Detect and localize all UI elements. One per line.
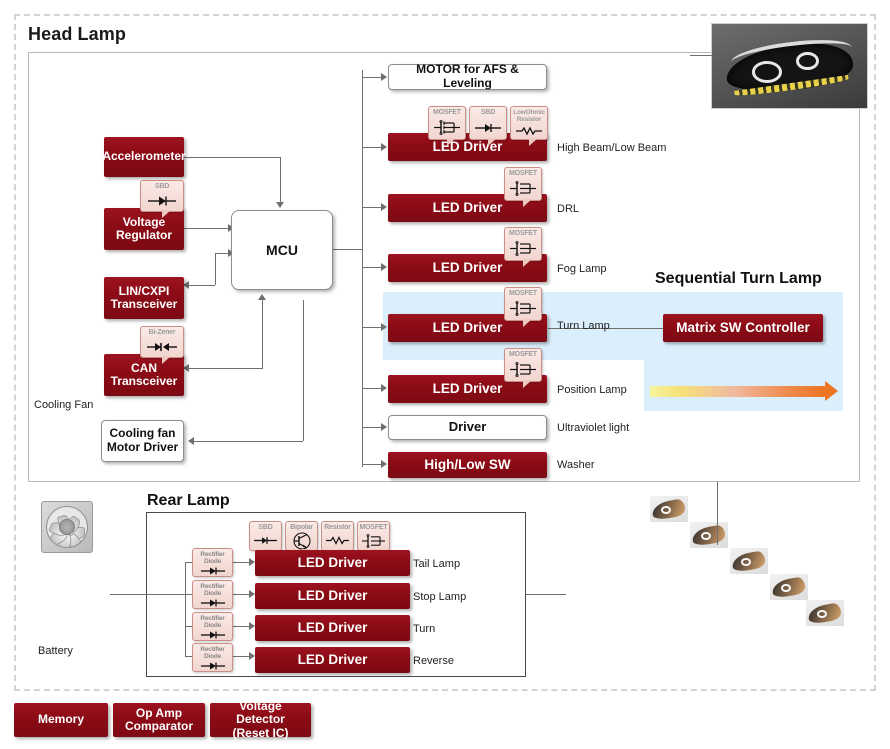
chip-bi-zener-label: Bi-Zener <box>149 327 176 337</box>
block-driver-ultraviolet-label: Driver <box>449 420 487 435</box>
chip-rear-bipolar-label: Bipolar <box>290 522 313 532</box>
block-voltage-regulator-label-2: Regulator <box>116 229 172 242</box>
block-led-driver-position-label: LED Driver <box>433 381 503 396</box>
sequential-lamp-frame-1 <box>650 496 688 522</box>
rect-diode-2-label-1: Rectifier <box>200 583 224 590</box>
block-cooling-fan-label-2: Motor Driver <box>107 441 178 455</box>
rear-lamp-title: Rear Lamp <box>147 492 230 510</box>
arrow-branch-washer <box>381 460 387 468</box>
chip-mosfet-fog-lamp: MOSFET <box>504 227 542 261</box>
chip-mosfet-tail-lamp: MOSFET <box>357 521 390 551</box>
block-mcu[interactable]: MCU <box>231 210 333 290</box>
chip-mosfet-drl-label: MOSFET <box>509 168 537 178</box>
sequential-lamp-frame-5 <box>806 600 844 626</box>
rectifier-diode-icon <box>193 629 232 640</box>
line-fan-v <box>303 300 304 441</box>
cooling-fan-image <box>41 501 93 553</box>
block-voltage-regulator[interactable]: Voltage Regulator <box>104 208 184 250</box>
rect-diode-1-label-2: Diode <box>204 558 221 565</box>
chip-rear-sbd-label: SBD <box>258 522 272 532</box>
rect-diode-4-label-1: Rectifier <box>200 646 224 653</box>
sbd-diode-icon <box>470 117 506 140</box>
block-led-driver-stop-label: LED Driver <box>298 588 368 603</box>
chip-sbd-high-beam-label: SBD <box>481 107 495 117</box>
line-accelerometer-v <box>280 157 281 202</box>
label-stop-lamp: Stop Lamp <box>413 591 466 603</box>
block-matrix-sw-controller[interactable]: Matrix SW Controller <box>663 314 823 342</box>
mosfet-icon <box>505 359 541 382</box>
line-rearlamp-to-car <box>526 594 566 595</box>
legend-op-amp-comparator[interactable]: Op Amp Comparator <box>113 703 205 737</box>
block-lin-cxpi-transceiver[interactable]: LIN/CXPI Transceiver <box>104 277 184 319</box>
rectifier-diode-icon <box>193 660 232 671</box>
arrow-branch-motor <box>381 73 387 81</box>
line-output-bus <box>362 70 363 467</box>
line-branch-uv <box>362 427 382 428</box>
headlamp-photo <box>711 23 868 109</box>
label-reverse: Reverse <box>413 655 454 667</box>
arrow-mcu-to-fan <box>188 437 194 445</box>
block-led-driver-fog-label: LED Driver <box>433 260 503 275</box>
chip-sbd-tail-lamp: SBD <box>249 521 282 551</box>
sequential-lamp-frame-4 <box>770 574 808 600</box>
arrow-branch-highbeam <box>381 143 387 151</box>
chip-sbd-high-beam: SBD <box>469 106 507 140</box>
line-rect-drv-3 <box>232 626 250 627</box>
arrow-branch-position <box>381 384 387 392</box>
block-rectifier-diode-turn[interactable]: RectifierDiode <box>192 612 233 641</box>
line-rear-bus <box>185 562 186 656</box>
block-rectifier-diode-reverse[interactable]: RectifierDiode <box>192 643 233 672</box>
block-accelerometer-label: Accelerometer <box>102 150 185 163</box>
line-to-headlamp-photo <box>690 55 712 56</box>
line-branch-highbeam <box>362 147 382 148</box>
rect-diode-3-label-2: Diode <box>204 622 221 629</box>
block-rectifier-diode-stop[interactable]: RectifierDiode <box>192 580 233 609</box>
chip-mosfet-turn-lamp: MOSFET <box>504 287 542 321</box>
arrow-branch-drl <box>381 203 387 211</box>
rect-diode-3-label-1: Rectifier <box>200 615 224 622</box>
block-can-transceiver[interactable]: CAN Transceiver <box>104 354 184 396</box>
sequential-turn-lamp-title: Sequential Turn Lamp <box>655 270 822 288</box>
chip-mosfet-position-label: MOSFET <box>509 349 537 359</box>
block-led-driver-turn[interactable]: LED Driver <box>255 615 410 641</box>
line-can-v <box>262 300 263 368</box>
line-rect-drv-4 <box>232 656 250 657</box>
block-led-driver-turn-rear-label: LED Driver <box>298 620 368 635</box>
block-matrix-sw-controller-label: Matrix SW Controller <box>676 320 810 335</box>
bipolar-transistor-icon <box>286 532 317 551</box>
block-high-low-sw-label: High/Low SW <box>424 457 510 472</box>
label-high-beam-low-beam: High Beam/Low Beam <box>557 142 666 154</box>
resistor-icon <box>322 532 353 551</box>
block-led-driver-turn-label: LED Driver <box>433 320 503 335</box>
block-driver-ultraviolet[interactable]: Driver <box>388 415 547 440</box>
line-accelerometer-h <box>183 157 280 158</box>
block-led-driver-drl-label: LED Driver <box>433 200 503 215</box>
block-led-driver-reverse-label: LED Driver <box>298 652 368 667</box>
mosfet-icon <box>505 298 541 321</box>
chip-resistor-tail-lamp: Resistor <box>321 521 354 551</box>
block-accelerometer[interactable]: Accelerometer <box>104 137 184 177</box>
chip-rear-mosfet-label: MOSFET <box>360 522 388 532</box>
cooling-fan-caption: Cooling Fan <box>34 399 93 411</box>
legend-opamp-label-1: Op Amp <box>125 707 193 720</box>
sequential-lamp-frame-3 <box>730 548 768 574</box>
legend-voltage-detector[interactable]: Voltage Detector (Reset IC) <box>210 703 311 737</box>
line-branch-fog <box>362 267 382 268</box>
chip-sbd-label: SBD <box>155 181 169 191</box>
sequential-turn-arrow-head <box>825 381 838 401</box>
mosfet-icon <box>358 532 389 551</box>
arrow-branch-turn <box>381 323 387 331</box>
line-vreg-h <box>183 228 231 229</box>
legend-vdet-label-2: (Reset IC) <box>214 727 307 740</box>
chip-rear-resistor-label: Resistor <box>324 522 350 532</box>
block-led-driver-stop-lamp[interactable]: LED Driver <box>255 583 410 609</box>
line-fan-h <box>190 441 303 442</box>
legend-memory[interactable]: Memory <box>14 703 108 737</box>
mosfet-icon <box>429 117 465 140</box>
label-turn-rear: Turn <box>413 623 435 635</box>
chip-mosfet-high-beam-label: MOSFET <box>433 107 461 117</box>
line-mcu-out <box>332 249 362 250</box>
chip-lowohmic-resistor-label: LowOhmic Resistor <box>511 107 547 123</box>
line-branch-motor <box>362 77 382 78</box>
resistor-icon <box>511 123 547 139</box>
chip-mosfet-fog-label: MOSFET <box>509 228 537 238</box>
legend-vdet-label-1: Voltage Detector <box>214 700 307 727</box>
line-branch-turn <box>362 327 382 328</box>
sequential-lamp-frame-2 <box>690 522 728 548</box>
block-led-driver-tail-lamp[interactable]: LED Driver <box>255 550 410 576</box>
rectifier-diode-icon <box>193 565 232 576</box>
bi-zener-diode-icon <box>141 337 183 358</box>
block-lin-label-1: LIN/CXPI <box>111 285 178 298</box>
label-fog-lamp: Fog Lamp <box>557 263 607 275</box>
line-branch-washer <box>362 464 382 465</box>
label-position-lamp: Position Lamp <box>557 384 627 396</box>
chip-sbd-voltage-regulator: SBD <box>140 180 184 212</box>
line-headlamp-to-car <box>717 482 718 545</box>
head-lamp-title: Head Lamp <box>28 24 126 45</box>
sequential-turn-gradient-arrow <box>650 386 825 397</box>
arrow-accelerometer-to-mcu <box>276 202 284 208</box>
arrow-branch-fog <box>381 263 387 271</box>
line-branch-drl <box>362 207 382 208</box>
chip-lowohmic-resistor-high-beam: LowOhmic Resistor <box>510 106 548 140</box>
label-drl: DRL <box>557 203 579 215</box>
block-cooling-fan-label-1: Cooling fan <box>107 427 178 441</box>
legend-opamp-label-2: Comparator <box>125 720 193 733</box>
block-cooling-fan-motor-driver[interactable]: Cooling fan Motor Driver <box>101 420 184 462</box>
battery-caption: Battery <box>38 645 73 657</box>
line-can-h <box>183 368 263 369</box>
chip-bi-zener-can: Bi-Zener <box>140 326 184 358</box>
line-rect-drv-2 <box>232 594 250 595</box>
legend-memory-label: Memory <box>38 713 84 726</box>
line-battery-main <box>110 594 185 595</box>
chip-mosfet-turn-label: MOSFET <box>509 288 537 298</box>
block-lin-label-2: Transceiver <box>111 298 178 311</box>
block-led-driver-tail-label: LED Driver <box>298 555 368 570</box>
line-lin-v <box>215 253 216 285</box>
chip-mosfet-high-beam: MOSFET <box>428 106 466 140</box>
block-rectifier-diode-tail[interactable]: RectifierDiode <box>192 548 233 577</box>
label-ultraviolet-light: Ultraviolet light <box>557 422 629 434</box>
block-motor-afs-label: MOTOR for AFS & Leveling <box>393 63 542 91</box>
sbd-diode-icon <box>141 191 183 212</box>
sbd-diode-icon <box>250 532 281 551</box>
block-mcu-label: MCU <box>266 242 298 258</box>
block-led-driver-reverse[interactable]: LED Driver <box>255 647 410 673</box>
arrow-branch-uv <box>381 423 387 431</box>
chip-mosfet-position-lamp: MOSFET <box>504 348 542 382</box>
mosfet-icon <box>505 178 541 201</box>
block-high-low-sw-washer[interactable]: High/Low SW <box>388 452 547 478</box>
chip-mosfet-drl: MOSFET <box>504 167 542 201</box>
chip-bipolar-tail-lamp: Bipolar <box>285 521 318 551</box>
line-rect-drv-1 <box>232 562 250 563</box>
label-turn-lamp: Turn Lamp <box>557 320 610 332</box>
arrow-can-to-mcu <box>258 294 266 300</box>
block-can-label-2: Transceiver <box>111 375 178 388</box>
block-motor-afs-leveling[interactable]: MOTOR for AFS & Leveling <box>388 64 547 90</box>
rect-diode-2-label-2: Diode <box>204 590 221 597</box>
rect-diode-4-label-2: Diode <box>204 653 221 660</box>
mosfet-icon <box>505 238 541 261</box>
label-tail-lamp: Tail Lamp <box>413 558 460 570</box>
rect-diode-1-label-1: Rectifier <box>200 551 224 558</box>
diagram-canvas: Head Lamp Sequential Turn Lamp <box>0 0 890 749</box>
rectifier-diode-icon <box>193 597 232 608</box>
line-branch-position <box>362 388 382 389</box>
label-washer: Washer <box>557 459 595 471</box>
